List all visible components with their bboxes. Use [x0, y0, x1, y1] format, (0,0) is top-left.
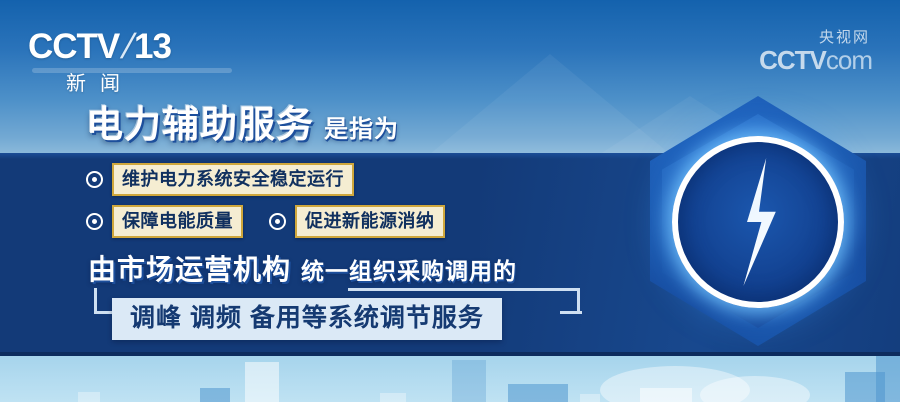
building-shape — [78, 392, 100, 402]
page-title: 电力辅助服务 是指为 — [86, 104, 399, 146]
building-shape — [508, 384, 568, 402]
headline-main: 电力辅助服务 — [86, 104, 314, 146]
logo-cctv-text: CCTV — [28, 27, 119, 66]
building-shape — [876, 356, 900, 402]
target-bullseye-icon — [86, 171, 103, 188]
detail-line-three-right: 统一组织采购调用的 — [301, 256, 517, 286]
detail-line-three: 由市场运营机构 统一组织采购调用的 — [88, 254, 517, 286]
bullet-chip: 促进新能源消纳 — [295, 205, 445, 238]
building-shape — [245, 362, 279, 402]
watermark-brand-text: CCTV — [759, 45, 826, 75]
bullet-row: 维护电力系统安全稳定运行 — [86, 163, 445, 196]
detail-line-four-bar: 调峰 调频 备用等系统调节服务 — [112, 298, 502, 340]
detail-line-four-text: 调峰 调频 备用等系统调节服务 — [130, 304, 484, 332]
bullet-chip: 保障电能质量 — [112, 205, 243, 238]
bullet-list: 维护电力系统安全稳定运行 保障电能质量 促进新能源消纳 — [86, 163, 445, 247]
watermark-brand: CCTVcom — [759, 46, 872, 74]
cctv13-logo: CCTV/13 新闻 — [28, 28, 248, 88]
logo-channel-number: 13 — [134, 27, 171, 66]
target-bullseye-icon — [86, 213, 103, 230]
bullet-chip: 维护电力系统安全稳定运行 — [112, 163, 354, 196]
building-shape — [580, 394, 600, 402]
logo-wordmark: CCTV/13 — [28, 28, 248, 66]
building-shape — [200, 388, 230, 402]
city-skyline-strip — [0, 356, 900, 402]
building-shape — [380, 393, 406, 402]
broadcast-graphic: CCTV/13 新闻 央视网 CCTVcom 电力辅助服务 是指为 维护电力系统… — [0, 0, 900, 402]
building-shape — [452, 360, 486, 402]
target-bullseye-icon — [269, 213, 286, 230]
cctv-com-watermark: 央视网 CCTVcom — [759, 30, 872, 74]
building-shape — [640, 388, 692, 402]
bracket-top-rule — [348, 288, 580, 291]
detail-line-three-left: 由市场运营机构 — [88, 254, 291, 286]
logo-underbar — [32, 68, 232, 73]
bullet-row: 保障电能质量 促进新能源消纳 — [86, 205, 445, 238]
hexagon-badge — [636, 96, 884, 392]
watermark-suffix: com — [826, 45, 872, 75]
watermark-chinese-label: 央视网 — [759, 30, 870, 46]
headline-suffix: 是指为 — [324, 109, 399, 144]
bracket-right-horizontal — [560, 311, 582, 314]
